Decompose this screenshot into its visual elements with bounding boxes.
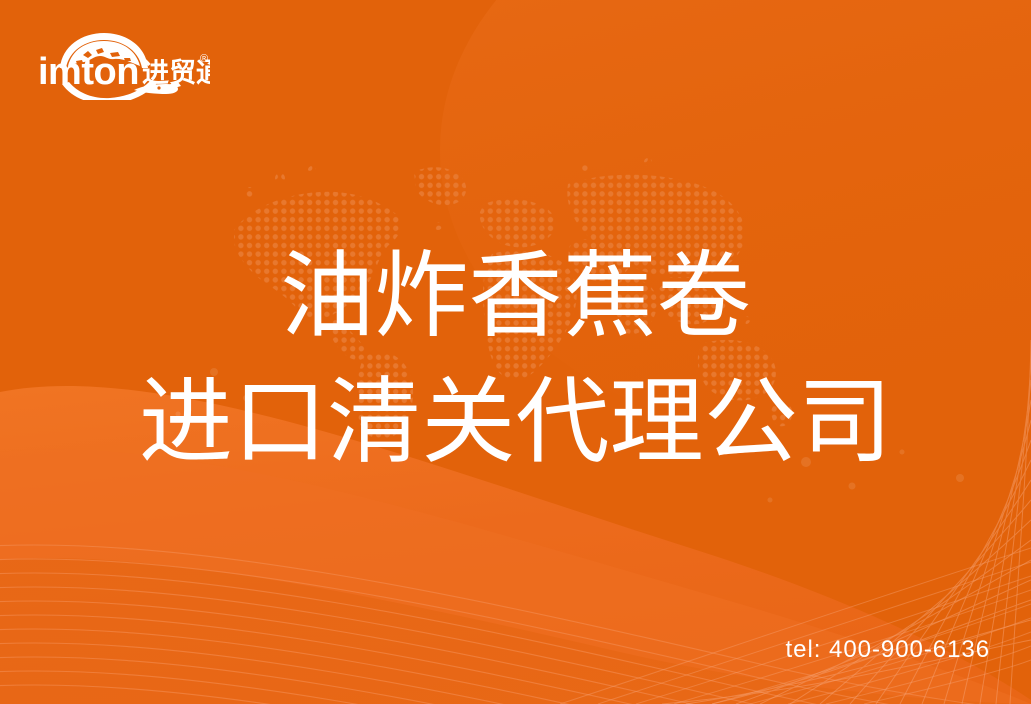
headline: 油炸香蕉卷 进口清关代理公司 [0,236,1031,483]
logo-wordmark: imton [38,51,139,93]
brand-logo[interactable]: imton 进贸通 ® [38,28,210,100]
contact-phone: tel: 400-900-6136 [786,636,990,664]
headline-line-2: 进口清关代理公司 [0,362,1031,482]
headline-line-1: 油炸香蕉卷 [0,236,1031,356]
promo-banner: imton 进贸通 ® 油炸香蕉卷 进口清关代理公司 tel: 400-900-… [0,0,1031,704]
brand-logo-svg: imton 进贸通 ® [38,28,210,100]
registered-mark: ® [200,53,208,65]
